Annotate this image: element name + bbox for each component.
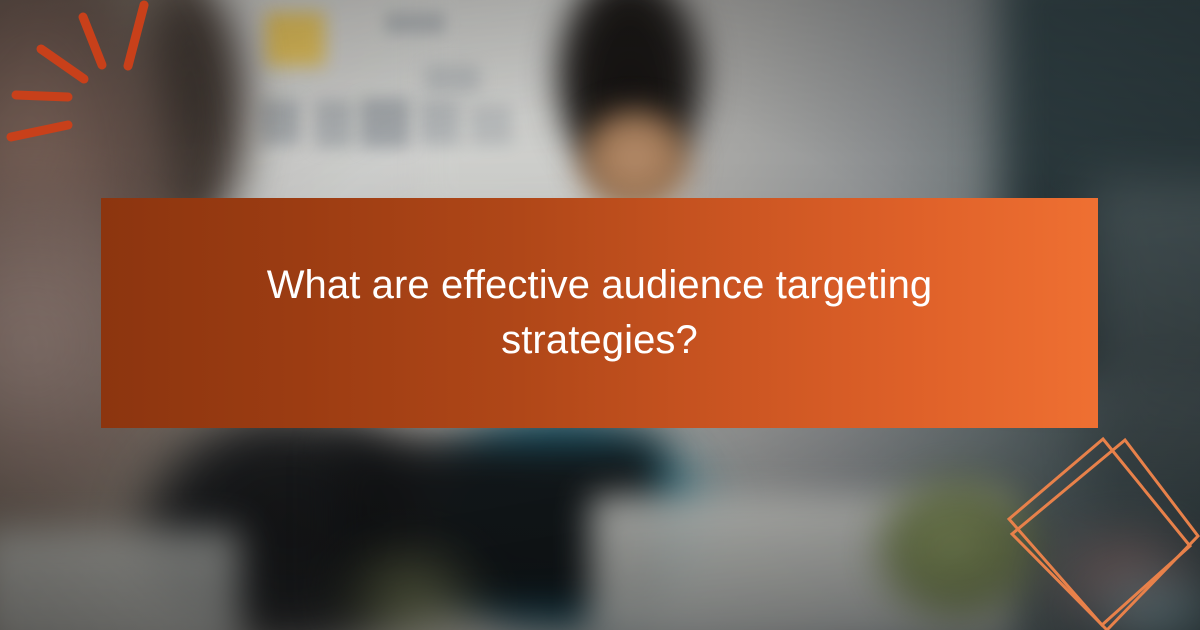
page-title: What are effective audience targeting st… [250, 258, 950, 368]
social-card: What are effective audience targeting st… [0, 0, 1200, 630]
title-banner: What are effective audience targeting st… [101, 198, 1098, 428]
